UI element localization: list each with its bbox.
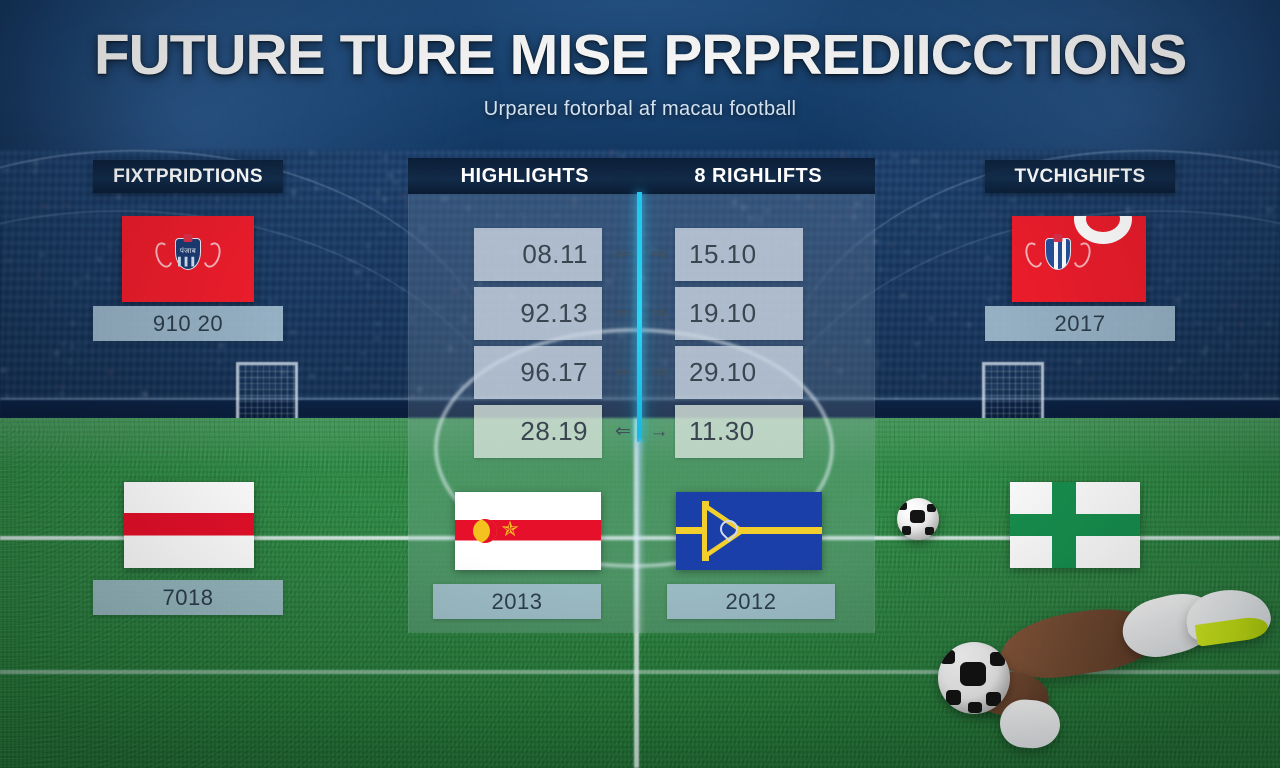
center-left-value: 2013 bbox=[433, 584, 601, 619]
cross-horizontal-bar bbox=[1010, 514, 1140, 536]
arrow-left-icon-3: ⇐ bbox=[610, 346, 636, 399]
crowd-speck bbox=[893, 154, 897, 158]
crest-shield-right bbox=[1045, 238, 1071, 270]
crest-laurel-right bbox=[200, 240, 223, 270]
ball-panel bbox=[940, 650, 955, 664]
soccer-ball-large bbox=[938, 642, 1010, 714]
crowd-speck bbox=[610, 150, 615, 155]
table-cell-left-2: 92.13 bbox=[474, 287, 602, 340]
right-top-flag bbox=[1012, 216, 1146, 302]
crowd-speck bbox=[881, 185, 883, 187]
table-cell-left-3: 96.17 bbox=[474, 346, 602, 399]
center-divider-line bbox=[637, 192, 642, 442]
ball-panel bbox=[946, 690, 961, 705]
crescent-icon bbox=[473, 519, 497, 543]
ball-panel bbox=[968, 702, 982, 713]
chevron-bar-horizontal bbox=[676, 527, 822, 534]
table-cell-right-1: 15.10 bbox=[675, 228, 803, 281]
center-right-value: 2012 bbox=[667, 584, 835, 619]
left-top-value: 910 20 bbox=[93, 306, 283, 341]
club-crest-icon: पंजाब ▌▌▌ bbox=[160, 238, 216, 282]
crest-laurel-right-right bbox=[1070, 240, 1093, 270]
crowd-speck bbox=[310, 151, 314, 155]
crowd-speck bbox=[388, 173, 393, 178]
crowd-speck bbox=[361, 194, 364, 197]
ball-panel bbox=[986, 692, 1001, 706]
ball-panel bbox=[925, 527, 934, 535]
page-title: FUTURE TURE MISE PRPREDIICCTIONS bbox=[0, 22, 1280, 88]
ball-panel bbox=[927, 504, 936, 512]
arrow-right-icon-3: ⇒ bbox=[646, 346, 672, 399]
left-bottom-value: 7018 bbox=[93, 580, 283, 615]
left-bottom-flag bbox=[124, 482, 254, 568]
center-panel-header: HIGHLIGHTS 8 RIGHLIFTS bbox=[408, 158, 875, 194]
arrow-left-icon-1: ⇐ bbox=[610, 228, 636, 281]
page-subtitle: Urpareu fotorbal af macau football bbox=[0, 98, 1280, 121]
crowd-speck bbox=[911, 159, 914, 162]
crowd-speck bbox=[262, 155, 264, 157]
goal-post-left bbox=[236, 362, 298, 420]
ball-panel bbox=[910, 510, 925, 523]
table-cell-left-1: 08.11 bbox=[474, 228, 602, 281]
ball-panel bbox=[898, 502, 907, 510]
crest-cap bbox=[184, 234, 193, 242]
soccer-ball-small bbox=[897, 498, 939, 540]
center-left-flag: ✯ bbox=[455, 492, 601, 570]
center-right-flag bbox=[676, 492, 822, 570]
star-icon: ✯ bbox=[499, 519, 521, 541]
crowd-speck bbox=[394, 181, 398, 185]
crowd-speck bbox=[376, 191, 380, 195]
center-column-header-left: HIGHLIGHTS bbox=[408, 165, 642, 188]
crowd-speck bbox=[914, 159, 918, 163]
crest-cap-right bbox=[1054, 234, 1063, 242]
table-cell-left-4: 28.19 bbox=[474, 405, 602, 458]
infographic-canvas: FUTURE TURE MISE PRPREDIICCTIONS Urpareu… bbox=[0, 0, 1280, 768]
crowd-speck bbox=[382, 197, 387, 202]
crowd-speck bbox=[944, 183, 947, 186]
left-top-flag: पंजाब ▌▌▌ bbox=[122, 216, 254, 302]
table-cell-right-3: 29.10 bbox=[675, 346, 803, 399]
arrow-right-icon-4: → bbox=[646, 405, 672, 458]
goal-post-right bbox=[982, 362, 1044, 420]
club-crest-icon-right bbox=[1030, 238, 1086, 282]
crest-laurel-left-right bbox=[1022, 240, 1045, 270]
arrow-left-icon-4: ⇐ bbox=[610, 405, 636, 458]
right-panel-header: TVCHIGHIFTS bbox=[985, 160, 1175, 193]
arrow-right-icon-1: ⇒ bbox=[646, 228, 672, 281]
right-top-value: 2017 bbox=[985, 306, 1175, 341]
goal-net-left bbox=[239, 365, 295, 420]
center-column-header-right: 8 RIGHLIFTS bbox=[642, 165, 876, 188]
crowd-speck bbox=[397, 171, 400, 174]
left-panel-header: FIXTPRIDTIONS bbox=[93, 160, 283, 193]
arrow-right-icon-2: ⇒ bbox=[646, 287, 672, 340]
ball-panel bbox=[960, 662, 986, 686]
table-cell-right-2: 19.10 bbox=[675, 287, 803, 340]
center-divider-glow bbox=[636, 440, 643, 635]
goal-net-right bbox=[985, 365, 1041, 420]
ball-panel bbox=[902, 526, 911, 535]
crest-laurel-left bbox=[152, 240, 175, 270]
crowd-speck bbox=[383, 156, 387, 160]
crowd-speck bbox=[401, 193, 406, 198]
right-bottom-flag bbox=[1010, 482, 1140, 568]
table-cell-right-4: 11.30 bbox=[675, 405, 803, 458]
crest-script-text: पंजाब bbox=[180, 247, 196, 256]
arrow-left-icon-2: ⇐ bbox=[610, 287, 636, 340]
crest-bars: ▌▌▌ bbox=[178, 257, 198, 266]
ball-panel bbox=[990, 652, 1005, 666]
